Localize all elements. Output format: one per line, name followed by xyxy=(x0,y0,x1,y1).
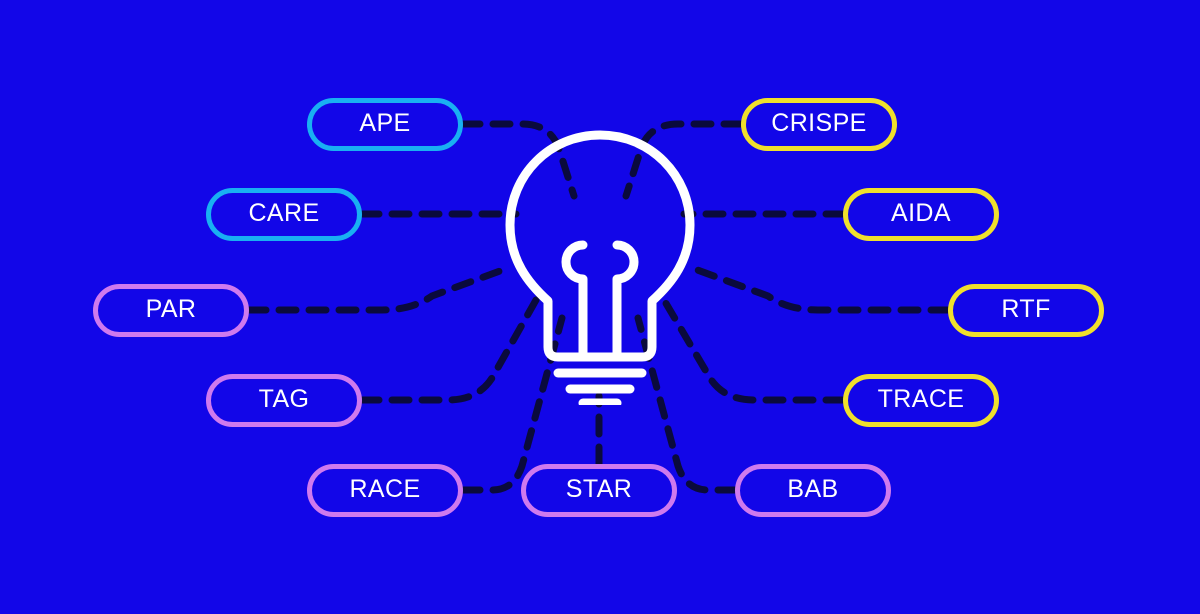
node-pill-aida[interactable]: AIDA xyxy=(843,188,999,241)
node-pill-ape[interactable]: APE xyxy=(307,98,463,151)
node-label-rtf: RTF xyxy=(1001,295,1050,326)
connector-rtf xyxy=(692,268,948,310)
node-label-bab: BAB xyxy=(787,475,838,506)
node-pill-care[interactable]: CARE xyxy=(206,188,362,241)
node-label-ape: APE xyxy=(359,109,410,140)
node-label-race: RACE xyxy=(349,475,420,506)
node-pill-par[interactable]: PAR xyxy=(93,284,249,337)
node-label-par: PAR xyxy=(146,295,197,326)
node-label-care: CARE xyxy=(248,199,319,230)
node-pill-bab[interactable]: BAB xyxy=(735,464,891,517)
node-pill-star[interactable]: STAR xyxy=(521,464,677,517)
node-pill-tag[interactable]: TAG xyxy=(206,374,362,427)
diagram-canvas: APECAREPARTAGRACESTARBABTRACERTFAIDACRIS… xyxy=(0,0,1200,614)
node-label-tag: TAG xyxy=(259,385,310,416)
node-label-crispe: CRISPE xyxy=(771,109,866,140)
node-label-star: STAR xyxy=(566,475,632,506)
node-pill-crispe[interactable]: CRISPE xyxy=(741,98,897,151)
node-pill-trace[interactable]: TRACE xyxy=(843,374,999,427)
node-label-aida: AIDA xyxy=(891,199,951,230)
node-pill-rtf[interactable]: RTF xyxy=(948,284,1104,337)
connector-par xyxy=(249,268,508,310)
node-pill-race[interactable]: RACE xyxy=(307,464,463,517)
lightbulb-icon xyxy=(480,115,720,405)
node-label-trace: TRACE xyxy=(878,385,965,416)
